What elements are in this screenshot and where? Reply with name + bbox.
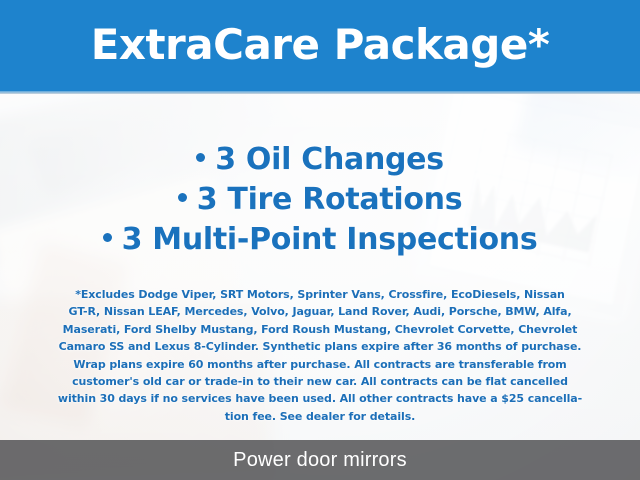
- disclaimer-line: Maserati, Ford Shelby Mustang, Ford Rous…: [26, 321, 614, 338]
- disclaimer-line: customer's old car or trade-in to their …: [26, 373, 614, 390]
- bullet-dot-icon: [103, 233, 112, 242]
- disclaimer-line: Camaro SS and Lexus 8-Cylinder. Syntheti…: [26, 338, 614, 355]
- disclaimer-line: within 30 days if no services have been …: [26, 390, 614, 407]
- benefit-label: 3 Tire Rotations: [197, 182, 463, 217]
- list-item: 3 Oil Changes: [0, 140, 640, 180]
- list-item: 3 Tire Rotations: [0, 180, 640, 220]
- promo-slide: ExtraCare Package* 3 Oil Changes 3 Tire …: [0, 0, 640, 480]
- page-title: ExtraCare Package*: [0, 16, 640, 74]
- caption-label: Power door mirrors: [233, 449, 407, 472]
- caption-bar: Power door mirrors: [0, 440, 640, 480]
- disclaimer-line: *Excludes Dodge Viper, SRT Motors, Sprin…: [26, 286, 614, 303]
- disclaimer-line: Wrap plans expire 60 months after purcha…: [26, 356, 614, 373]
- disclaimer-text: *Excludes Dodge Viper, SRT Motors, Sprin…: [26, 286, 614, 425]
- benefits-list: 3 Oil Changes 3 Tire Rotations 3 Multi-P…: [0, 140, 640, 260]
- bullet-dot-icon: [178, 193, 187, 202]
- list-item: 3 Multi-Point Inspections: [0, 220, 640, 260]
- benefit-label: 3 Multi-Point Inspections: [122, 222, 538, 257]
- disclaimer-line: tion fee. See dealer for details.: [26, 408, 614, 425]
- header-underline: [0, 91, 640, 94]
- bullet-dot-icon: [196, 153, 205, 162]
- benefit-label: 3 Oil Changes: [215, 142, 444, 177]
- disclaimer-line: GT-R, Nissan LEAF, Mercedes, Volvo, Jagu…: [26, 303, 614, 320]
